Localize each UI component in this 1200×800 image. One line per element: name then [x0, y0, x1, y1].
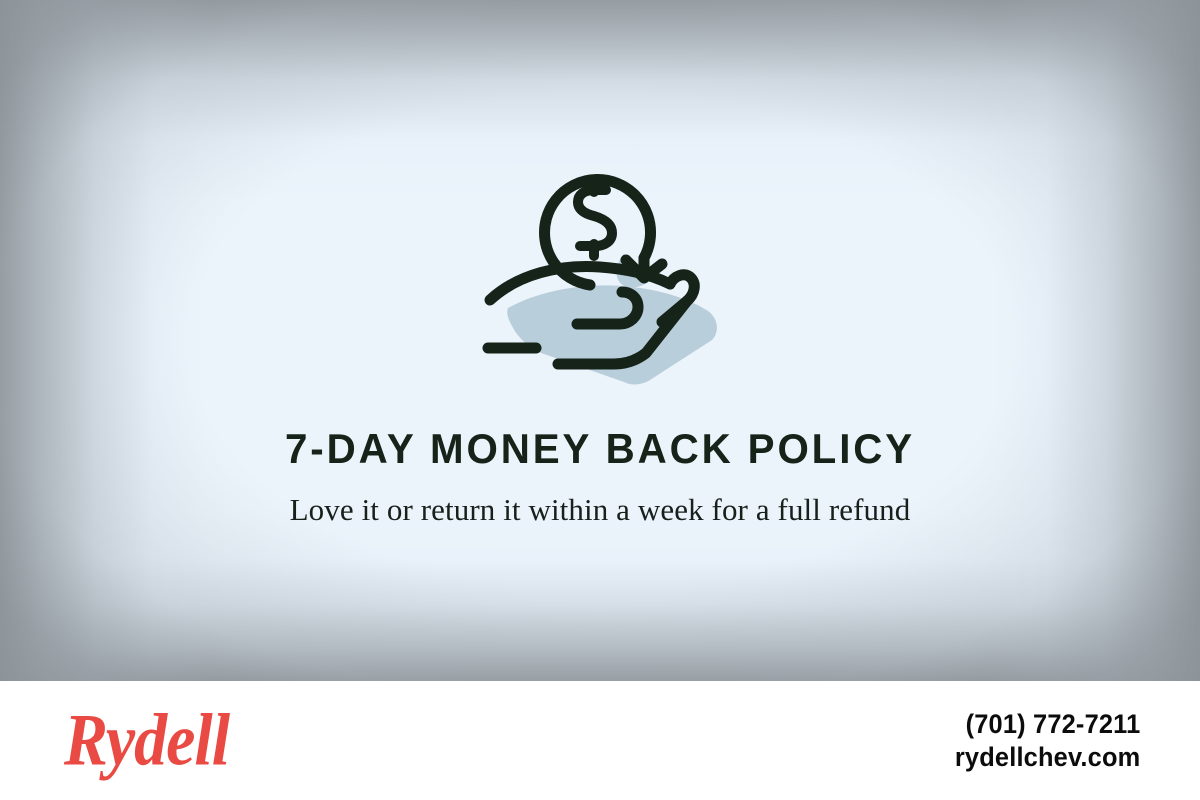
- footer-bar: Rydell (701) 772-7211 rydellchev.com: [0, 681, 1200, 800]
- contact-info: (701) 772-7211 rydellchev.com: [943, 708, 1140, 774]
- vignette-bottom: [0, 511, 1200, 681]
- rydell-logo[interactable]: Rydell: [64, 704, 229, 778]
- text-block: 7-DAY MONEY BACK POLICY Love it or retur…: [0, 424, 1200, 532]
- hero-panel: 7-DAY MONEY BACK POLICY Love it or retur…: [0, 0, 1200, 681]
- phone-number[interactable]: (701) 772-7211: [954, 708, 1140, 741]
- website-url[interactable]: rydellchev.com: [954, 741, 1140, 774]
- page-subtitle: Love it or return it within a week for a…: [264, 488, 936, 532]
- icon-container: [0, 148, 1200, 388]
- dollar-sign: [578, 180, 612, 256]
- money-back-hand-icon: [474, 148, 726, 388]
- promo-card: 7-DAY MONEY BACK POLICY Love it or retur…: [0, 0, 1200, 800]
- page-title: 7-DAY MONEY BACK POLICY: [24, 424, 1176, 474]
